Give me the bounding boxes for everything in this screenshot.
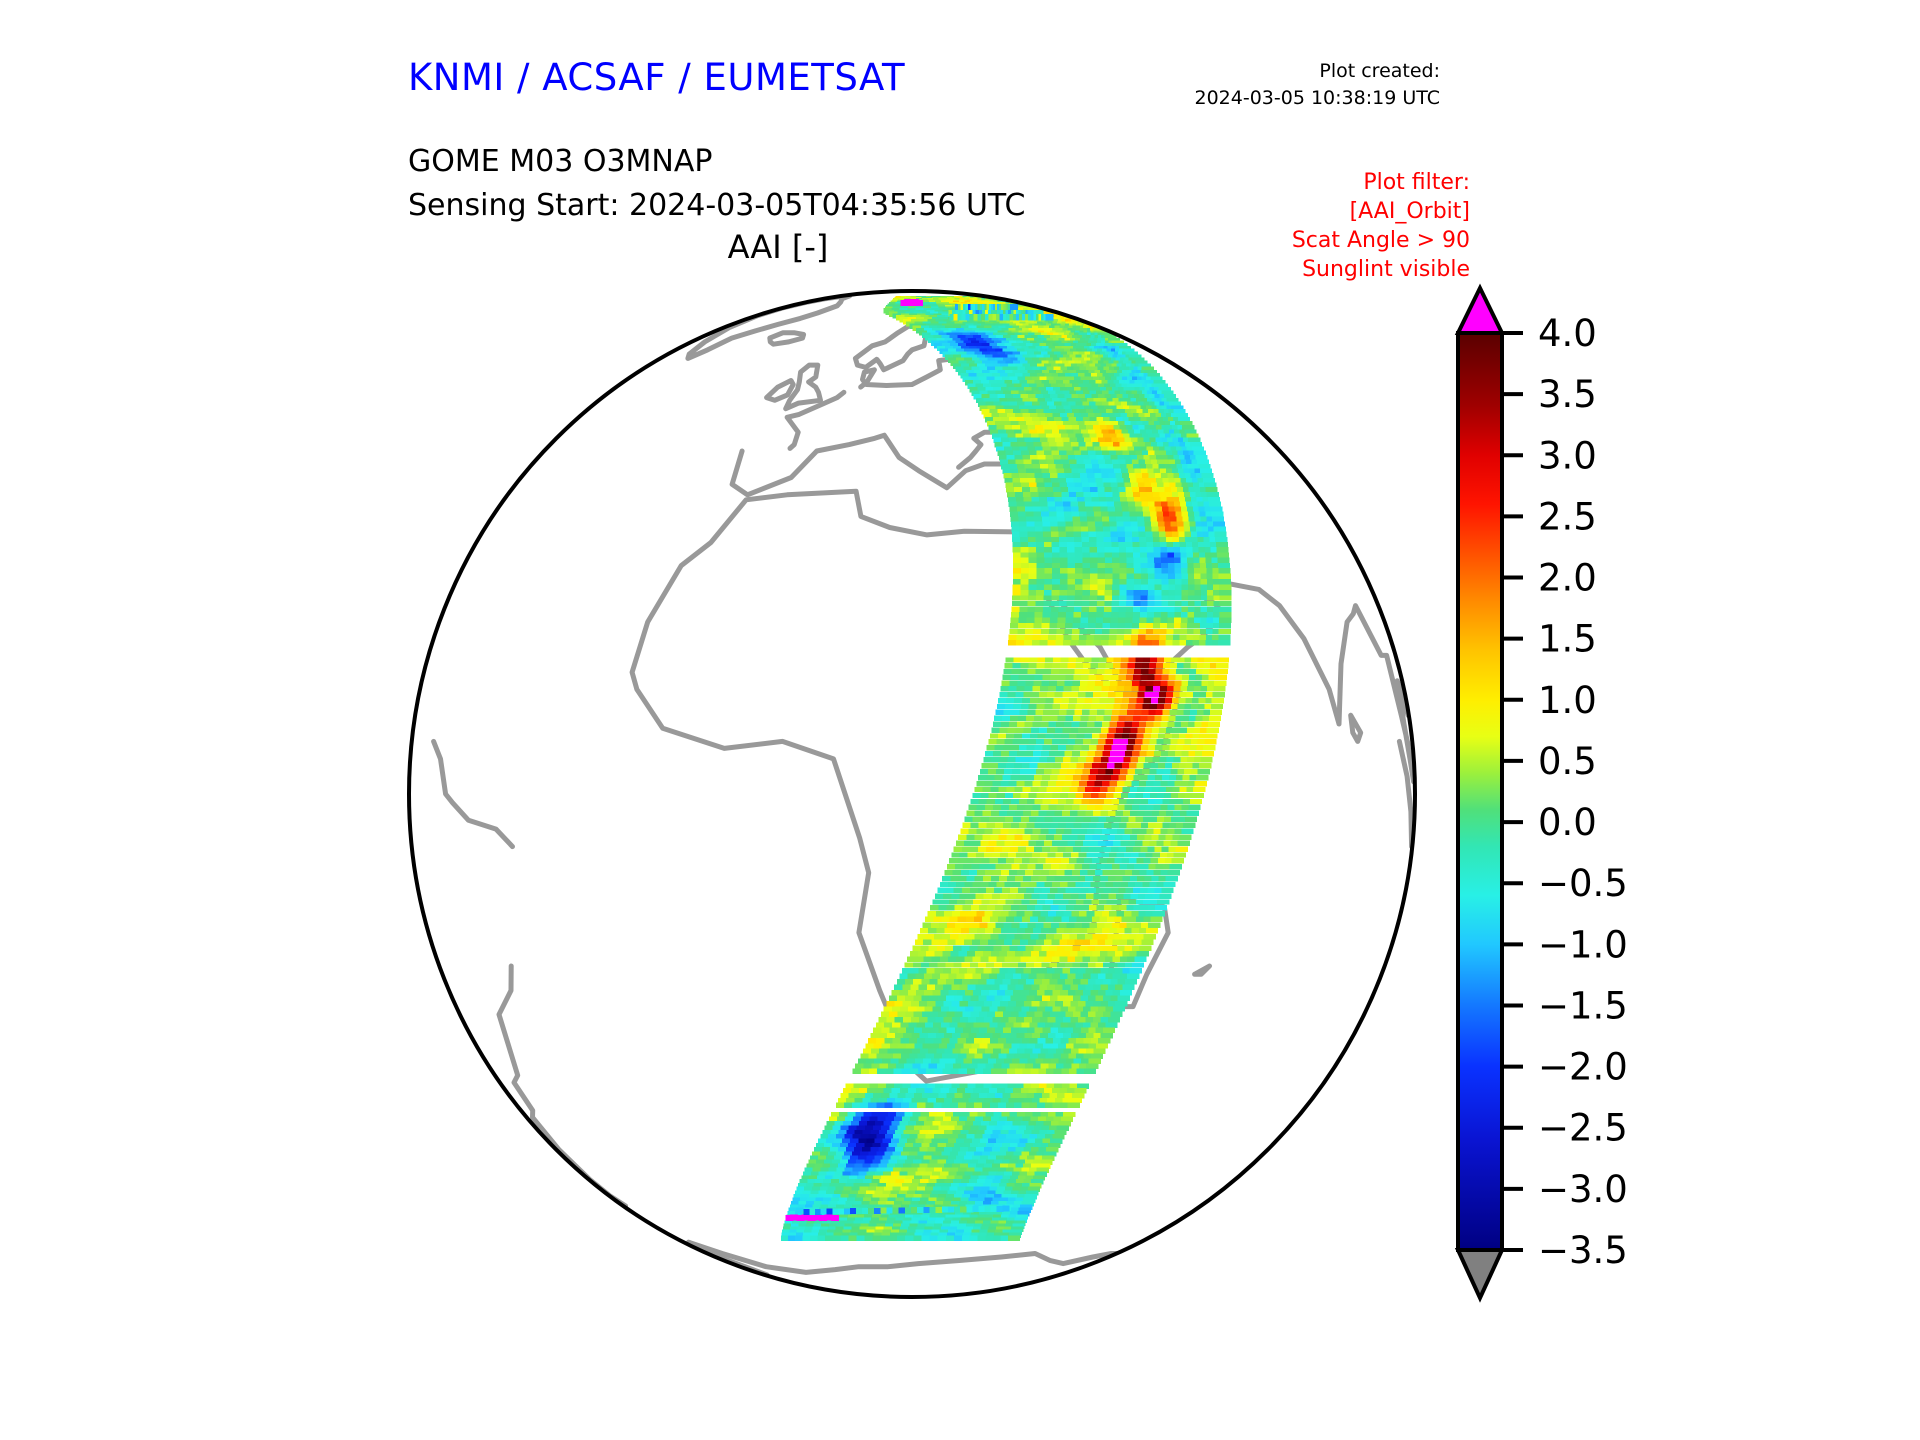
swath-pixel <box>1218 568 1230 573</box>
swath-pixel <box>1130 968 1142 973</box>
swath-pixel <box>1170 864 1182 869</box>
globe-svg <box>406 288 1418 1300</box>
swath-pixel <box>1198 769 1210 774</box>
swath-pixel <box>1214 527 1226 532</box>
swath-pixel <box>1185 817 1197 822</box>
swath-pixel <box>1091 1054 1103 1059</box>
swath-pixel <box>1213 522 1225 527</box>
swath-pixel <box>1217 547 1229 552</box>
filter-line-4: Sunglint visible <box>1150 255 1470 284</box>
swath-pixel <box>1216 542 1228 547</box>
swath-pixel <box>1113 1006 1125 1011</box>
swath-pixel <box>1217 657 1229 662</box>
swath-pixel <box>1122 985 1134 990</box>
variable-title: AAI [-] <box>408 228 1148 266</box>
swath-pixel <box>1219 590 1231 595</box>
swath-pixel <box>1110 1012 1122 1017</box>
swath-pixel <box>1178 841 1190 846</box>
swath-pixel <box>1216 663 1228 668</box>
swath-pixel <box>1172 858 1184 863</box>
swath-pixel <box>1139 945 1151 950</box>
globe-map <box>406 288 1418 1300</box>
swath-pixel <box>1207 727 1219 732</box>
swath-pixel <box>1108 1017 1120 1022</box>
swath-pixel <box>1208 722 1220 727</box>
swath-pixel <box>1137 951 1149 956</box>
swath-pixel <box>1218 634 1230 639</box>
sensing-start-line: Sensing Start: 2024-03-05T04:35:56 UTC <box>408 184 1025 228</box>
swath-pixel <box>1217 552 1229 557</box>
swath-pixel <box>1212 517 1224 522</box>
swath-pixel <box>1141 940 1153 945</box>
swath-pixel <box>1199 464 1211 469</box>
swath-pixel <box>1164 882 1176 887</box>
swath-pixel <box>1098 1038 1110 1043</box>
swath-pixel <box>1148 923 1160 928</box>
plot-created-value: 2024-03-05 10:38:19 UTC <box>1140 85 1440 112</box>
swath-pixel <box>1101 1033 1113 1038</box>
swath-pixel <box>1166 876 1178 881</box>
swath-pixel <box>1115 1001 1127 1006</box>
swath-pixel <box>1153 911 1165 916</box>
swath-pixel <box>1208 497 1220 502</box>
swath-pixel <box>1218 640 1230 645</box>
plot-created-label: Plot created: <box>1140 58 1440 85</box>
swath-pixel <box>1207 492 1219 497</box>
swath-pixel <box>1209 716 1221 721</box>
swath-pixel <box>1219 612 1231 617</box>
swath-pixel <box>1211 512 1223 517</box>
swath-pixel <box>1193 787 1205 792</box>
swath-pixel <box>1215 537 1227 542</box>
swath-pixel <box>1200 469 1212 474</box>
swath-pixel <box>1211 704 1223 709</box>
swath-pixel <box>1181 829 1193 834</box>
swath-pixel <box>1203 478 1215 483</box>
swath-pixel <box>1089 1059 1101 1064</box>
swath-pixel <box>1219 623 1231 628</box>
swath-pixel <box>1192 793 1204 798</box>
swath-pixel <box>1202 751 1214 756</box>
swath-pixel <box>1118 996 1130 1001</box>
swath-pixel <box>1219 618 1231 623</box>
swath-pixel <box>1183 823 1195 828</box>
swath-pixel <box>1215 675 1227 680</box>
filter-line-2: [AAI_Orbit] <box>1150 197 1470 226</box>
swath-pixel <box>1174 852 1186 857</box>
swath-pixel <box>1204 483 1216 488</box>
swath-pixel <box>1187 811 1199 816</box>
swath-pixel <box>1179 835 1191 840</box>
swath-pixel <box>1188 805 1200 810</box>
filter-line-1: Plot filter: <box>1150 168 1470 197</box>
swath-pixel <box>1219 629 1231 634</box>
swath-pixel <box>1219 606 1231 611</box>
swath-pixel <box>1214 680 1226 685</box>
swath-pixel <box>1157 899 1169 904</box>
swath-pixel <box>1168 870 1180 875</box>
swath-pixel <box>1213 686 1225 691</box>
swath-pixel <box>1195 781 1207 786</box>
instrument-line: GOME M03 O3MNAP <box>408 140 1025 184</box>
swath-pixel <box>1219 595 1231 600</box>
swath-pixel <box>1155 905 1167 910</box>
swath-pixel <box>1201 757 1213 762</box>
swath-pixel <box>1190 799 1202 804</box>
swath-pixel <box>1144 934 1156 939</box>
swath-pixel <box>1106 1022 1118 1027</box>
swath-pixel <box>1204 739 1216 744</box>
swath-pixel <box>1125 979 1137 984</box>
swath-pixel <box>1132 962 1144 967</box>
swath-pixel <box>1151 917 1163 922</box>
organisation-title: KNMI / ACSAF / EUMETSAT <box>408 56 905 99</box>
swath-pixel <box>1216 669 1228 674</box>
swath-pixel <box>1209 502 1221 507</box>
filter-line-3: Scat Angle > 90 <box>1150 226 1470 255</box>
swath-pixel <box>1219 574 1231 579</box>
swath-pixel <box>1212 698 1224 703</box>
swath-pixel <box>1196 775 1208 780</box>
swath-pixel <box>1203 745 1215 750</box>
plot-filter-block: Plot filter: [AAI_Orbit] Scat Angle > 90… <box>1150 168 1470 284</box>
swath-pixel <box>1213 692 1225 697</box>
swath-pixel <box>1120 990 1132 995</box>
swath-pixel <box>1206 733 1218 738</box>
swath-pixel <box>1103 1028 1115 1033</box>
swath-pixel <box>1206 487 1218 492</box>
swath-pixel <box>1215 532 1227 537</box>
swath-pixel <box>1159 894 1171 899</box>
swath-pixel <box>1134 957 1146 962</box>
swath-pixel <box>1219 584 1231 589</box>
swath-pixel <box>1210 507 1222 512</box>
swath-pixel <box>1219 601 1231 606</box>
swath-pixel <box>1086 1064 1098 1069</box>
swath-pixel <box>1202 473 1214 478</box>
dataset-info-block: GOME M03 O3MNAP Sensing Start: 2024-03-0… <box>408 140 1025 228</box>
swath-pixel <box>1093 1049 1105 1054</box>
swath-pixel <box>1096 1043 1108 1048</box>
swath-pixel <box>1210 710 1222 715</box>
swath-pixel <box>1218 558 1230 563</box>
swath-pixel <box>1146 928 1158 933</box>
swath-pixel <box>1127 974 1139 979</box>
swath-pixel <box>1199 763 1211 768</box>
plot-created-block: Plot created: 2024-03-05 10:38:19 UTC <box>1140 58 1440 112</box>
swath-pixel <box>1218 563 1230 568</box>
swath-pixel <box>1219 579 1231 584</box>
swath-pixel <box>1176 846 1188 851</box>
swath-pixel <box>1161 888 1173 893</box>
